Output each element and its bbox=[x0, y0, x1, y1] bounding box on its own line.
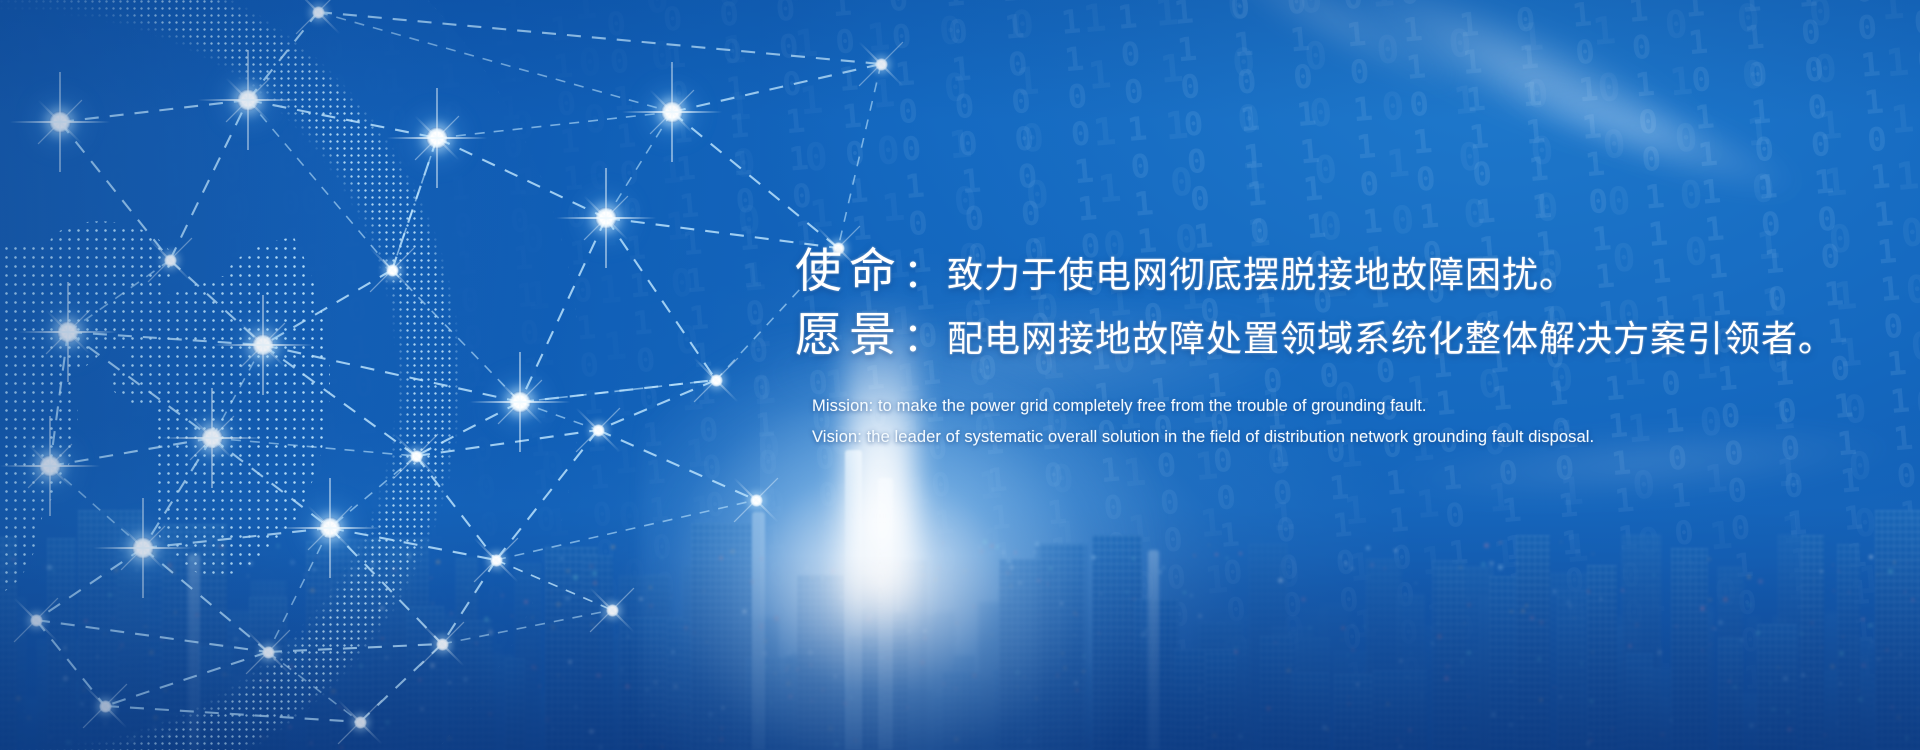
city-light bbox=[562, 678, 564, 680]
city-light bbox=[1858, 697, 1863, 702]
city-light bbox=[13, 606, 15, 608]
building bbox=[1033, 703, 1070, 750]
city-light bbox=[601, 594, 603, 596]
city-light bbox=[1007, 559, 1011, 563]
building bbox=[1205, 653, 1236, 750]
building bbox=[485, 655, 514, 750]
city-light bbox=[501, 594, 504, 597]
city-light bbox=[1212, 733, 1217, 738]
building bbox=[646, 575, 668, 750]
city-light bbox=[756, 651, 758, 653]
city-light bbox=[1899, 653, 1902, 656]
city-light bbox=[309, 741, 313, 745]
city-light bbox=[686, 711, 688, 713]
city-light bbox=[1653, 574, 1655, 576]
city-light bbox=[1055, 673, 1060, 678]
city-light bbox=[369, 553, 370, 554]
city-light bbox=[1589, 738, 1593, 742]
building bbox=[1583, 665, 1598, 750]
building bbox=[1557, 590, 1606, 750]
city-light bbox=[1060, 602, 1063, 605]
city-light bbox=[568, 660, 572, 664]
city-light bbox=[338, 705, 341, 708]
city-light bbox=[1468, 651, 1471, 654]
city-light bbox=[719, 737, 724, 742]
building bbox=[933, 695, 979, 750]
city-light bbox=[1600, 598, 1602, 600]
city-light bbox=[1771, 707, 1776, 712]
building bbox=[409, 699, 451, 750]
building bbox=[900, 560, 927, 750]
city-light bbox=[1444, 676, 1449, 681]
city-light bbox=[1491, 712, 1496, 717]
city-light bbox=[66, 740, 71, 745]
city-light bbox=[1009, 565, 1014, 570]
city-light bbox=[1260, 718, 1262, 720]
city-light bbox=[1239, 552, 1242, 555]
city-light bbox=[130, 738, 134, 742]
building bbox=[842, 687, 869, 750]
building bbox=[1035, 544, 1088, 750]
city-light bbox=[1675, 625, 1678, 628]
city-light bbox=[887, 543, 891, 547]
city-light bbox=[591, 623, 594, 626]
city-light bbox=[1205, 717, 1208, 720]
vision-text: 配电网接地故障处置领域系统化整体解决方案引领者。 bbox=[947, 319, 1835, 360]
landmark-tower bbox=[878, 478, 893, 750]
city-light bbox=[1701, 670, 1704, 673]
building bbox=[942, 672, 981, 750]
city-light bbox=[272, 710, 276, 714]
building bbox=[1673, 612, 1714, 750]
city-light bbox=[1885, 648, 1889, 652]
city-light bbox=[1836, 722, 1839, 725]
building bbox=[1801, 535, 1824, 750]
city-light bbox=[445, 675, 446, 676]
mission-subtitle-en: Mission: to make the power grid complete… bbox=[812, 391, 1895, 422]
building bbox=[1342, 674, 1378, 750]
city-light bbox=[811, 576, 814, 579]
city-light bbox=[47, 565, 52, 570]
city-light bbox=[805, 566, 808, 569]
city-haze bbox=[0, 420, 1920, 750]
city-light bbox=[721, 706, 725, 710]
city-light bbox=[343, 718, 345, 720]
city-light bbox=[234, 637, 238, 641]
city-light bbox=[730, 549, 735, 554]
building bbox=[902, 690, 934, 750]
building bbox=[119, 675, 134, 750]
city-light bbox=[1018, 581, 1022, 585]
building bbox=[1810, 709, 1835, 750]
network-node bbox=[57, 321, 79, 343]
city-light bbox=[825, 571, 828, 574]
city-light bbox=[112, 618, 114, 620]
city-light bbox=[750, 580, 754, 584]
building bbox=[306, 541, 334, 750]
mission-keyword: 使命 bbox=[795, 244, 903, 299]
city-light bbox=[1344, 562, 1348, 566]
building bbox=[456, 558, 478, 750]
building bbox=[1849, 638, 1874, 750]
cloud-streak bbox=[1479, 45, 1810, 216]
building bbox=[349, 567, 387, 750]
city-light bbox=[103, 721, 108, 726]
city-light bbox=[592, 571, 597, 576]
city-light bbox=[907, 629, 911, 633]
city-light bbox=[1537, 657, 1541, 661]
building bbox=[1251, 624, 1284, 750]
city-light bbox=[759, 626, 763, 630]
city-light bbox=[328, 551, 330, 553]
building bbox=[198, 646, 233, 750]
city-light bbox=[627, 635, 630, 638]
city-light bbox=[1133, 598, 1135, 600]
building bbox=[1162, 684, 1198, 750]
city-light bbox=[448, 681, 451, 684]
city-light bbox=[1215, 553, 1218, 556]
city-light bbox=[1197, 726, 1199, 728]
building bbox=[786, 654, 828, 750]
city-light bbox=[466, 588, 468, 590]
city-light bbox=[1406, 676, 1408, 678]
city-light bbox=[314, 679, 317, 682]
city-light bbox=[1701, 649, 1704, 652]
city-light bbox=[1498, 565, 1503, 570]
city-light bbox=[1464, 622, 1466, 624]
city-light bbox=[447, 736, 452, 741]
building bbox=[1530, 618, 1548, 750]
city-light bbox=[1082, 670, 1085, 673]
city-light bbox=[828, 726, 833, 731]
city-light bbox=[209, 738, 211, 740]
city-light bbox=[475, 642, 478, 645]
city-light bbox=[79, 732, 81, 734]
city-light bbox=[954, 687, 958, 691]
city-light bbox=[1193, 554, 1196, 557]
city-light bbox=[684, 626, 688, 630]
network-node bbox=[710, 374, 723, 387]
city-light bbox=[1355, 721, 1356, 722]
city-light bbox=[942, 682, 946, 686]
city-light bbox=[978, 545, 982, 549]
city-light bbox=[1747, 603, 1751, 607]
city-light bbox=[1144, 629, 1148, 633]
network-line-graph bbox=[0, 0, 1100, 750]
city-light bbox=[1657, 650, 1662, 655]
city-light bbox=[601, 614, 605, 618]
city-light bbox=[385, 720, 390, 725]
city-light bbox=[1074, 681, 1078, 685]
city-light bbox=[1351, 648, 1355, 652]
city-light bbox=[1445, 664, 1450, 669]
city-light bbox=[61, 683, 64, 686]
city-light bbox=[341, 708, 345, 712]
building bbox=[1057, 663, 1093, 750]
city-light bbox=[1226, 557, 1228, 559]
city-light bbox=[671, 650, 675, 654]
city-light bbox=[1158, 570, 1162, 574]
landmark-tower bbox=[188, 554, 200, 750]
building bbox=[859, 575, 896, 750]
city-light bbox=[1861, 663, 1866, 668]
building bbox=[712, 649, 733, 750]
city-light bbox=[756, 719, 759, 722]
city-light bbox=[869, 614, 872, 617]
city-light bbox=[157, 548, 159, 550]
city-light bbox=[370, 561, 375, 566]
city-light bbox=[560, 557, 563, 560]
mission-headline: 使命：致力于使电网彻底摆脱接地故障困扰。 bbox=[795, 246, 1895, 298]
city-light bbox=[703, 590, 705, 592]
city-light bbox=[1229, 744, 1230, 745]
city-light bbox=[920, 660, 925, 665]
city-light bbox=[209, 541, 211, 543]
binary-digit-overlay: 0 1 0 0 0 0 0 0 1 0 1 1 0 1 1 1 1 0 0 0 … bbox=[0, 0, 1920, 750]
city-light bbox=[787, 665, 790, 668]
city-light bbox=[1249, 683, 1250, 684]
dotted-world-map bbox=[0, 0, 580, 750]
network-node bbox=[750, 494, 763, 507]
city-light bbox=[625, 684, 630, 689]
building bbox=[163, 710, 195, 750]
city-light bbox=[785, 668, 788, 671]
city-light bbox=[1569, 580, 1570, 581]
city-light bbox=[1749, 723, 1754, 728]
city-light bbox=[359, 664, 363, 668]
building bbox=[37, 640, 84, 750]
city-light bbox=[923, 636, 927, 640]
city-light bbox=[450, 612, 453, 615]
city-light bbox=[9, 555, 11, 557]
city-light bbox=[1037, 579, 1040, 582]
city-light bbox=[1000, 587, 1002, 589]
city-light bbox=[149, 650, 154, 655]
building bbox=[246, 654, 269, 750]
building bbox=[1558, 617, 1586, 750]
building bbox=[117, 542, 173, 750]
city-light bbox=[810, 699, 814, 703]
city-light bbox=[153, 726, 156, 729]
network-node bbox=[319, 517, 341, 539]
city-light bbox=[1858, 689, 1860, 691]
network-node bbox=[39, 455, 61, 477]
city-light bbox=[400, 637, 401, 638]
city-light bbox=[1709, 644, 1711, 646]
building bbox=[325, 703, 350, 750]
city-light bbox=[1711, 626, 1715, 630]
building bbox=[1448, 651, 1489, 750]
city-light bbox=[1208, 544, 1210, 546]
city-light bbox=[63, 676, 68, 681]
landmark-tower bbox=[1148, 550, 1159, 750]
building bbox=[96, 627, 134, 750]
building bbox=[1167, 674, 1202, 750]
city-light bbox=[720, 726, 724, 730]
building bbox=[1773, 617, 1787, 750]
city-light bbox=[174, 611, 177, 614]
building bbox=[1121, 671, 1145, 750]
city-light bbox=[1352, 724, 1356, 728]
city-light bbox=[195, 627, 198, 630]
city-light bbox=[1234, 650, 1238, 654]
city-light bbox=[1082, 654, 1086, 658]
city-light bbox=[821, 577, 824, 580]
city-light bbox=[381, 728, 383, 730]
city-light bbox=[310, 588, 315, 593]
city-light bbox=[1410, 652, 1412, 654]
globe-limb-glow bbox=[0, 0, 580, 750]
city-light bbox=[1047, 583, 1049, 585]
city-light bbox=[901, 603, 903, 605]
building bbox=[359, 639, 400, 750]
city-light bbox=[649, 604, 653, 608]
city-light bbox=[511, 615, 513, 617]
building bbox=[666, 619, 722, 750]
building bbox=[1225, 617, 1253, 750]
city-light bbox=[1098, 632, 1100, 634]
building bbox=[1226, 640, 1252, 750]
city-light bbox=[850, 696, 853, 699]
building bbox=[1787, 676, 1810, 750]
building bbox=[545, 689, 563, 750]
network-node bbox=[606, 604, 619, 617]
mission-colon: ： bbox=[903, 251, 943, 297]
building bbox=[620, 617, 682, 750]
city-light bbox=[1700, 606, 1705, 611]
building bbox=[1355, 675, 1394, 750]
city-light bbox=[1278, 578, 1283, 583]
building bbox=[0, 537, 17, 750]
city-light bbox=[979, 549, 984, 554]
building bbox=[587, 638, 632, 750]
city-light bbox=[1756, 631, 1760, 635]
network-node bbox=[490, 554, 503, 567]
city-light bbox=[1437, 634, 1442, 639]
city-light bbox=[1366, 546, 1370, 550]
building bbox=[1191, 624, 1213, 750]
city-light bbox=[1530, 616, 1534, 620]
globe-limb-dots bbox=[0, 0, 580, 750]
city-light bbox=[392, 567, 397, 572]
building bbox=[1718, 567, 1743, 750]
building bbox=[676, 678, 689, 750]
city-light bbox=[1322, 725, 1327, 730]
city-light bbox=[557, 674, 560, 677]
building bbox=[1878, 618, 1892, 750]
building bbox=[721, 629, 748, 750]
city-light bbox=[972, 605, 975, 608]
building bbox=[1301, 610, 1327, 750]
city-light bbox=[1569, 605, 1572, 608]
city-light bbox=[1061, 652, 1064, 655]
city-light bbox=[689, 707, 691, 709]
city-light bbox=[431, 602, 434, 605]
city-light bbox=[542, 656, 543, 657]
city-light bbox=[263, 679, 267, 683]
city-light bbox=[1395, 737, 1400, 742]
city-light bbox=[1481, 562, 1486, 567]
network-node bbox=[312, 6, 325, 19]
building bbox=[1736, 694, 1775, 750]
city-light bbox=[1238, 734, 1243, 739]
city-light bbox=[289, 664, 294, 669]
city-light bbox=[1635, 623, 1639, 627]
city-light bbox=[649, 586, 652, 589]
building bbox=[1423, 626, 1454, 750]
network-node bbox=[875, 58, 888, 71]
building bbox=[919, 615, 937, 750]
city-light bbox=[1290, 739, 1291, 740]
city-light bbox=[429, 737, 431, 739]
city-light bbox=[707, 738, 710, 741]
network-node bbox=[30, 614, 43, 627]
city-light bbox=[288, 725, 292, 729]
city-light bbox=[1199, 688, 1201, 690]
city-light bbox=[995, 545, 999, 549]
building bbox=[47, 538, 76, 750]
city-light bbox=[1301, 597, 1306, 602]
building bbox=[189, 704, 223, 750]
city-light bbox=[991, 634, 993, 636]
building bbox=[1478, 644, 1494, 750]
city-light bbox=[1190, 594, 1193, 597]
network-node bbox=[262, 646, 275, 659]
city-light bbox=[574, 705, 578, 709]
building bbox=[137, 611, 175, 750]
city-light bbox=[161, 637, 164, 640]
city-light bbox=[96, 655, 99, 658]
city-light bbox=[329, 694, 330, 695]
city-light bbox=[955, 621, 959, 625]
city-light bbox=[1877, 658, 1880, 661]
tower-light-beam bbox=[845, 300, 915, 630]
network-node bbox=[354, 716, 367, 729]
city-light bbox=[144, 625, 147, 628]
building bbox=[1208, 608, 1232, 750]
city-light bbox=[1783, 676, 1788, 681]
city-light bbox=[652, 714, 654, 716]
landmark-tower bbox=[845, 450, 862, 750]
city-light bbox=[1269, 732, 1270, 733]
city-light bbox=[1525, 604, 1528, 607]
city-light bbox=[1460, 660, 1464, 664]
city-light bbox=[854, 595, 859, 600]
city-light bbox=[719, 556, 723, 560]
city-light bbox=[1274, 641, 1277, 644]
building bbox=[1103, 650, 1138, 750]
building bbox=[330, 539, 381, 750]
city-light bbox=[1484, 543, 1489, 548]
building bbox=[1671, 548, 1708, 750]
building bbox=[1587, 565, 1617, 750]
city-light bbox=[248, 561, 253, 566]
building bbox=[174, 588, 223, 750]
vision-subtitle-en: Vision: the leader of systematic overall… bbox=[812, 422, 1895, 453]
building bbox=[999, 559, 1056, 750]
city-light bbox=[258, 735, 261, 738]
city-light bbox=[1521, 609, 1525, 613]
city-light bbox=[373, 618, 375, 620]
city-light bbox=[136, 569, 138, 571]
building bbox=[1199, 622, 1242, 750]
city-light bbox=[1356, 683, 1359, 686]
building bbox=[993, 669, 1016, 750]
building bbox=[203, 611, 256, 750]
city-light bbox=[1839, 682, 1842, 685]
building bbox=[101, 603, 123, 750]
city-light bbox=[1325, 727, 1330, 732]
